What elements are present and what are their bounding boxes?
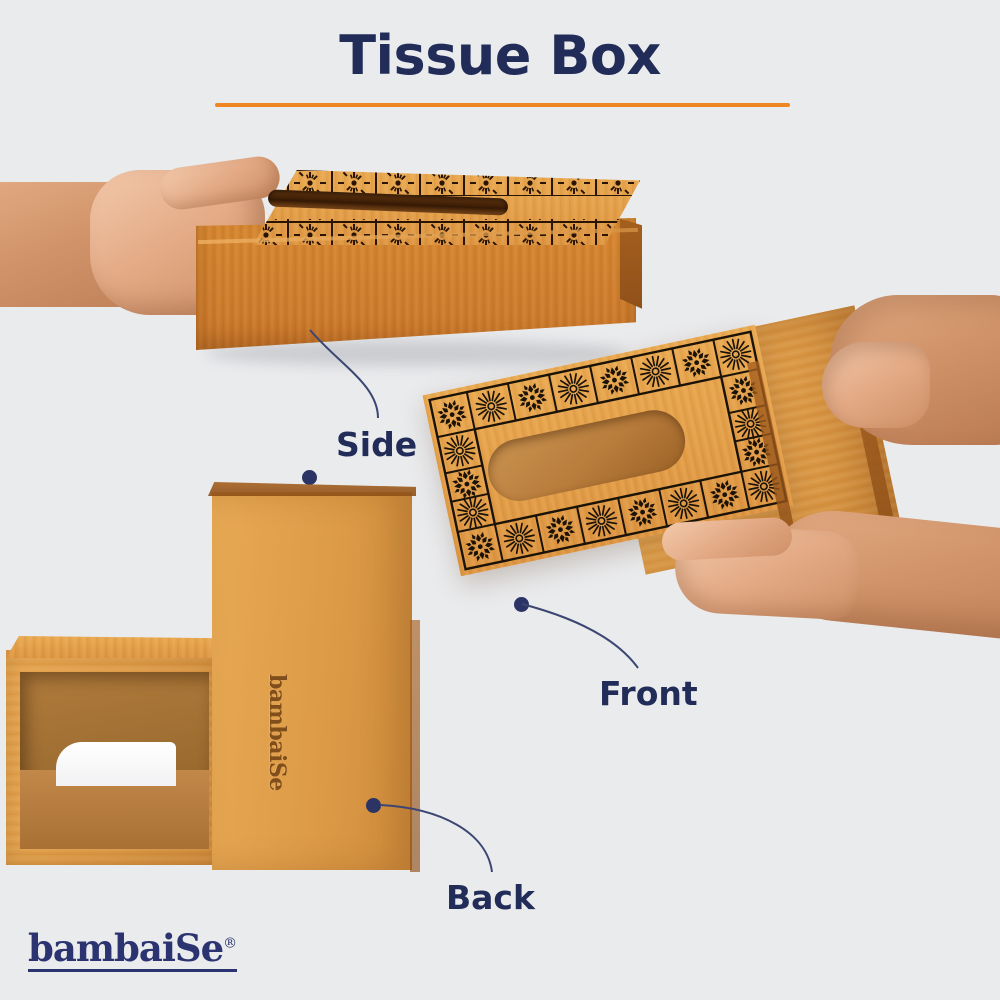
back-panel-lip <box>208 482 416 496</box>
title-divider <box>215 103 790 107</box>
page-title: Tissue Box <box>0 24 1000 87</box>
engraved-brand: bambaiSe <box>264 674 290 791</box>
brand-name: bambaiSe <box>28 926 223 970</box>
brand-logo: bambaiSe® <box>28 930 237 972</box>
callout-label-front: Front <box>599 674 698 713</box>
callout-dot-front <box>514 597 529 612</box>
tissue-slot-back <box>56 742 176 786</box>
trademark-symbol: ® <box>223 936 237 952</box>
index-finger-lower-right <box>661 517 793 562</box>
thumb <box>158 154 283 212</box>
back-panel: bambaiSe <box>212 492 412 870</box>
sleeve-top-rim <box>6 636 221 658</box>
back-panel-right-edge <box>410 620 420 872</box>
callout-dot-back <box>366 798 381 813</box>
open-sleeve <box>6 650 221 865</box>
infographic-canvas: Tissue Box <box>0 0 1000 1000</box>
callout-label-back: Back <box>446 878 535 917</box>
fingers-upper-right <box>822 342 930 428</box>
callout-label-side: Side <box>336 425 417 464</box>
product-front-view <box>430 320 1000 660</box>
product-back-view: bambaiSe <box>0 470 440 890</box>
